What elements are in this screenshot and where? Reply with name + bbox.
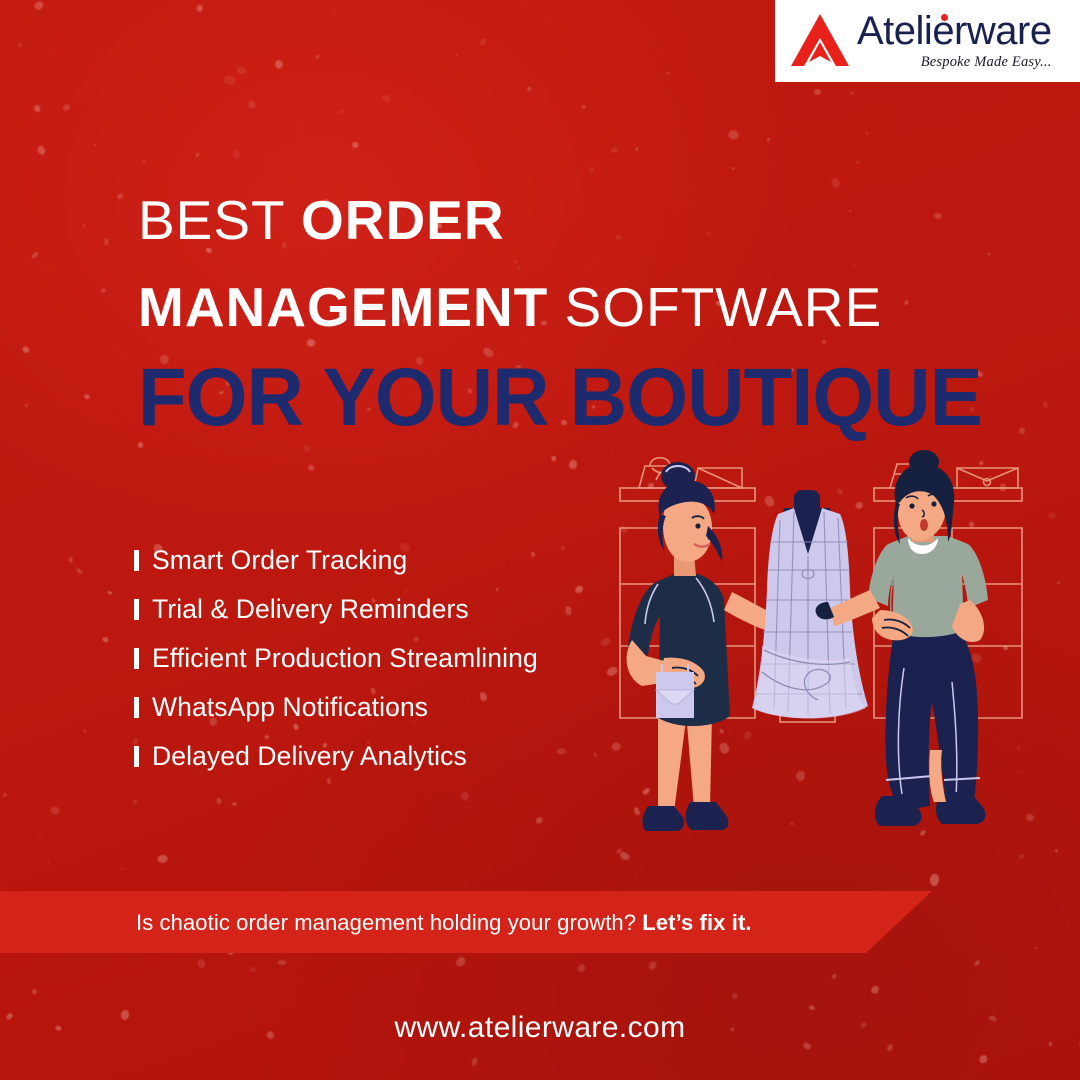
bullet-bar-icon (134, 746, 139, 767)
headline-software: SOFTWARE (548, 276, 882, 338)
feature-label: Delayed Delivery Analytics (152, 741, 467, 772)
feature-label: Trial & Delivery Reminders (152, 594, 469, 625)
boutique-illustration (612, 450, 1042, 890)
headline-line-2: MANAGEMENT SOFTWARE (138, 280, 1028, 335)
promo-canvas: Atelierware Bespoke Made Easy... BEST OR… (0, 0, 1080, 1080)
headline-best: BEST (138, 189, 301, 251)
list-item: Delayed Delivery Analytics (134, 732, 538, 781)
logo-i-dot-icon (941, 14, 948, 21)
feature-label: Smart Order Tracking (152, 545, 407, 576)
headline-line-1: BEST ORDER (138, 193, 1028, 248)
logo-tagline: Bespoke Made Easy... (857, 54, 1052, 71)
cta-question: Is chaotic order management holding your… (136, 910, 642, 935)
website-url[interactable]: www.atelierware.com (0, 1011, 1080, 1045)
headline-block: BEST ORDER MANAGEMENT SOFTWARE FOR YOUR … (138, 193, 1028, 439)
logo-name-text: Atelierware (857, 9, 1052, 53)
list-item: Smart Order Tracking (134, 536, 538, 585)
logo-wordmark: Atelierware (857, 11, 1052, 51)
logo-chevron-a-icon (789, 12, 851, 70)
feature-label: Efficient Production Streamlining (152, 643, 538, 674)
list-item: WhatsApp Notifications (134, 683, 538, 732)
headline-order: ORDER (301, 189, 505, 251)
headline-management: MANAGEMENT (138, 276, 548, 338)
cta-ribbon-text: Is chaotic order management holding your… (136, 910, 752, 936)
cta-action: Let’s fix it. (642, 910, 751, 935)
bullet-bar-icon (134, 550, 139, 571)
bullet-bar-icon (134, 599, 139, 620)
headline-line-3: FOR YOUR BOUTIQUE (138, 357, 1001, 439)
list-item: Trial & Delivery Reminders (134, 585, 538, 634)
feature-label: WhatsApp Notifications (152, 692, 428, 723)
feature-list: Smart Order Tracking Trial & Delivery Re… (134, 536, 538, 781)
bullet-bar-icon (134, 648, 139, 669)
list-item: Efficient Production Streamlining (134, 634, 538, 683)
bullet-bar-icon (134, 697, 139, 718)
brand-logo: Atelierware Bespoke Made Easy... (775, 0, 1080, 82)
